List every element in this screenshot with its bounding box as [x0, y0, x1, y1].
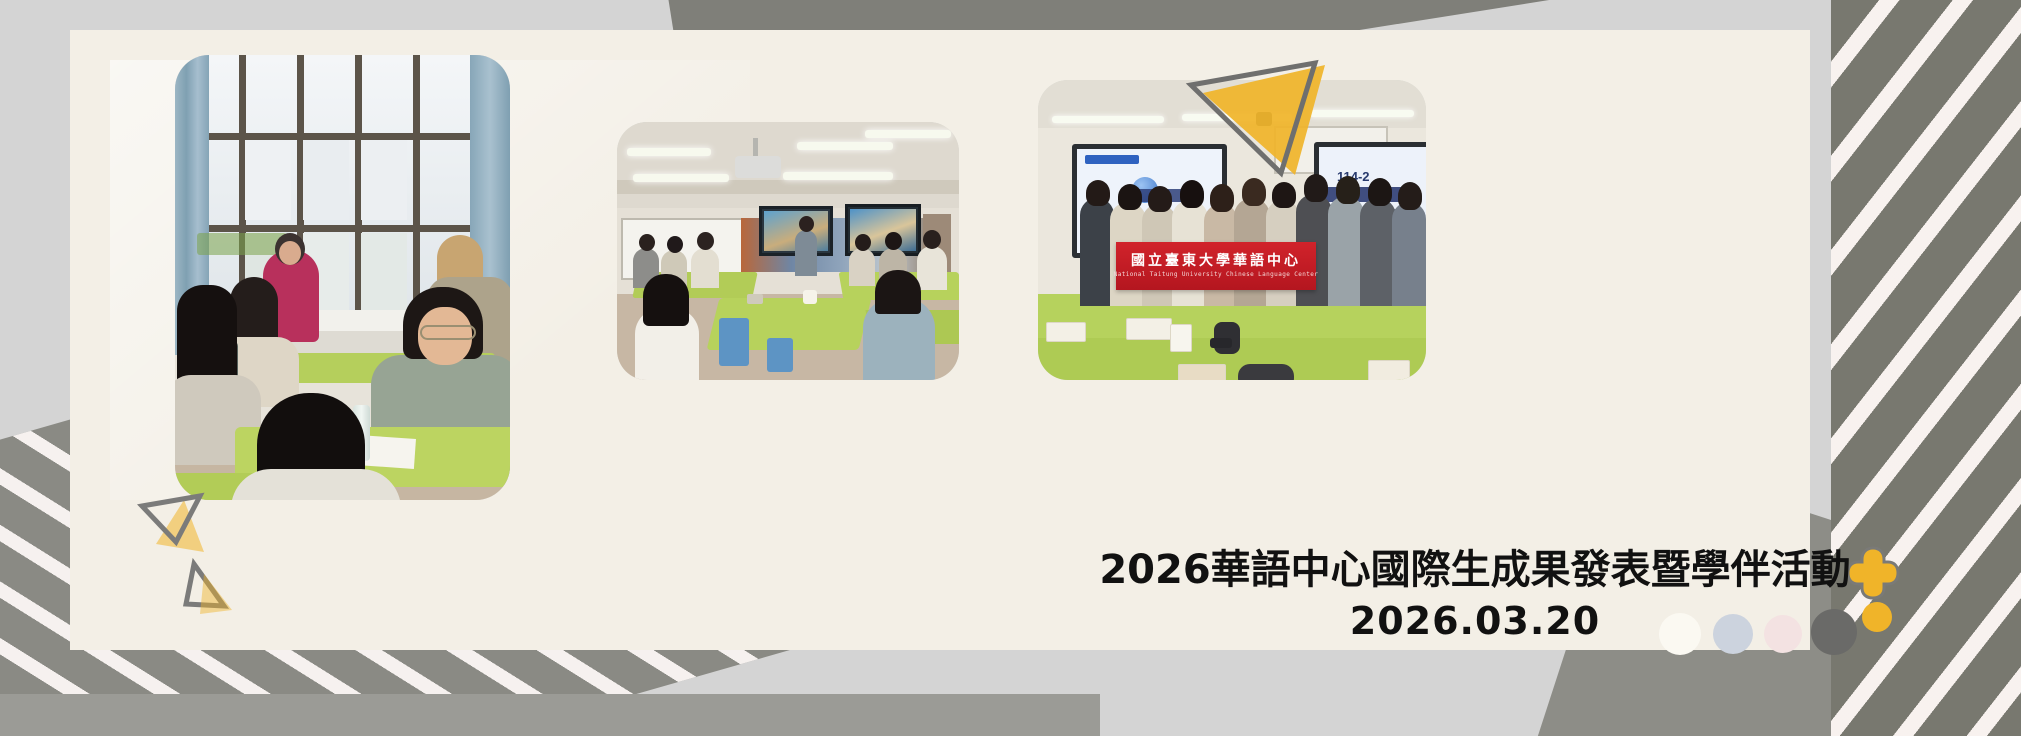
p2-person-2-head [667, 236, 683, 253]
p2-item-on-desk [747, 294, 763, 304]
p2-chair-1 [719, 318, 749, 366]
p3-person-2-hair [1118, 184, 1142, 210]
p3-bottle [1170, 324, 1192, 352]
p2-chair-3 [767, 338, 793, 372]
p2-projector [735, 156, 781, 178]
p3-person-1-hair [1086, 180, 1110, 206]
p3-paper-box-2 [1126, 318, 1172, 340]
banner-chinese-text: 國立臺東大學華語中心 [1131, 254, 1301, 268]
p3-lunch-box [1178, 364, 1226, 380]
p1-person-a-face [279, 241, 301, 265]
p1-person-d-glasses [420, 325, 476, 340]
p3-person-9 [1328, 196, 1364, 306]
p2-person-4 [849, 248, 875, 286]
event-title: 2026華語中心國際生成果發表暨學伴活動 [1010, 548, 1940, 593]
p3-person-10 [1360, 198, 1396, 306]
p3-dark-tray [1238, 364, 1294, 380]
p2-person-front-right-hair [875, 270, 921, 314]
p2-person-6 [917, 246, 947, 290]
p3-person-11-hair [1398, 182, 1422, 210]
p2-person-presenter [795, 230, 817, 276]
p3-person-11 [1392, 202, 1426, 306]
triangle-outline-bottom-left [128, 478, 298, 643]
red-banner: 國立臺東大學華語中心 National Taitung University C… [1116, 242, 1316, 290]
p2-person-3 [691, 248, 719, 288]
p2-ceiling-beam [617, 180, 959, 194]
p2-person-5-head [885, 232, 902, 250]
p2-person-6-head [923, 230, 941, 249]
p2-person-presenter-head [799, 216, 814, 232]
p1-pane-c [361, 140, 407, 220]
p1-mullion-v4 [413, 55, 420, 317]
photo2-content [617, 122, 959, 380]
p1-pane-b [303, 140, 349, 220]
p2-light-2 [633, 174, 729, 182]
p2-person-front-left-hair [643, 274, 689, 326]
p1-green-strip [197, 233, 287, 255]
p1-pane-a [245, 140, 291, 220]
p2-light-4 [783, 172, 893, 180]
p2-person-3-head [697, 232, 714, 250]
banner-english-text: National Taitung University Chinese Lang… [1114, 271, 1319, 278]
gray-band-bottom [0, 694, 1100, 736]
p2-paper-on-desk [803, 290, 817, 304]
p2-person-1-head [639, 234, 655, 251]
p3-light-1 [1052, 116, 1164, 123]
photo1-content [175, 55, 510, 500]
title-block: 2026華語中心國際生成果發表暨學伴活動 2026.03.20 [1010, 548, 1940, 643]
p2-light-5 [865, 130, 951, 138]
photo-lecture-hall-presentation [617, 122, 959, 380]
p2-light-3 [797, 142, 893, 150]
p3-person-5-hair [1210, 184, 1234, 212]
p2-projector-mount [753, 138, 758, 158]
p3-screen-left-header [1085, 155, 1139, 164]
p3-phone [1210, 338, 1232, 348]
p3-desk-items [1038, 316, 1426, 380]
photo-classroom-discussion [175, 55, 510, 500]
p2-person-4-head [855, 234, 871, 251]
p3-paper-box-3 [1368, 360, 1410, 380]
p3-person-1 [1080, 198, 1114, 306]
p3-paper-box-1 [1046, 322, 1086, 342]
yellow-triangle-bottom-left-lower [200, 574, 232, 614]
event-date: 2026.03.20 [1010, 599, 1940, 643]
banner-canvas: 114-2 [0, 0, 2021, 736]
p3-person-7-hair [1272, 182, 1296, 208]
p1-pane-f [361, 233, 407, 311]
triangle-outline-top-right [1185, 35, 1385, 185]
p2-light-1 [627, 148, 711, 156]
p3-person-3-hair [1148, 186, 1172, 212]
